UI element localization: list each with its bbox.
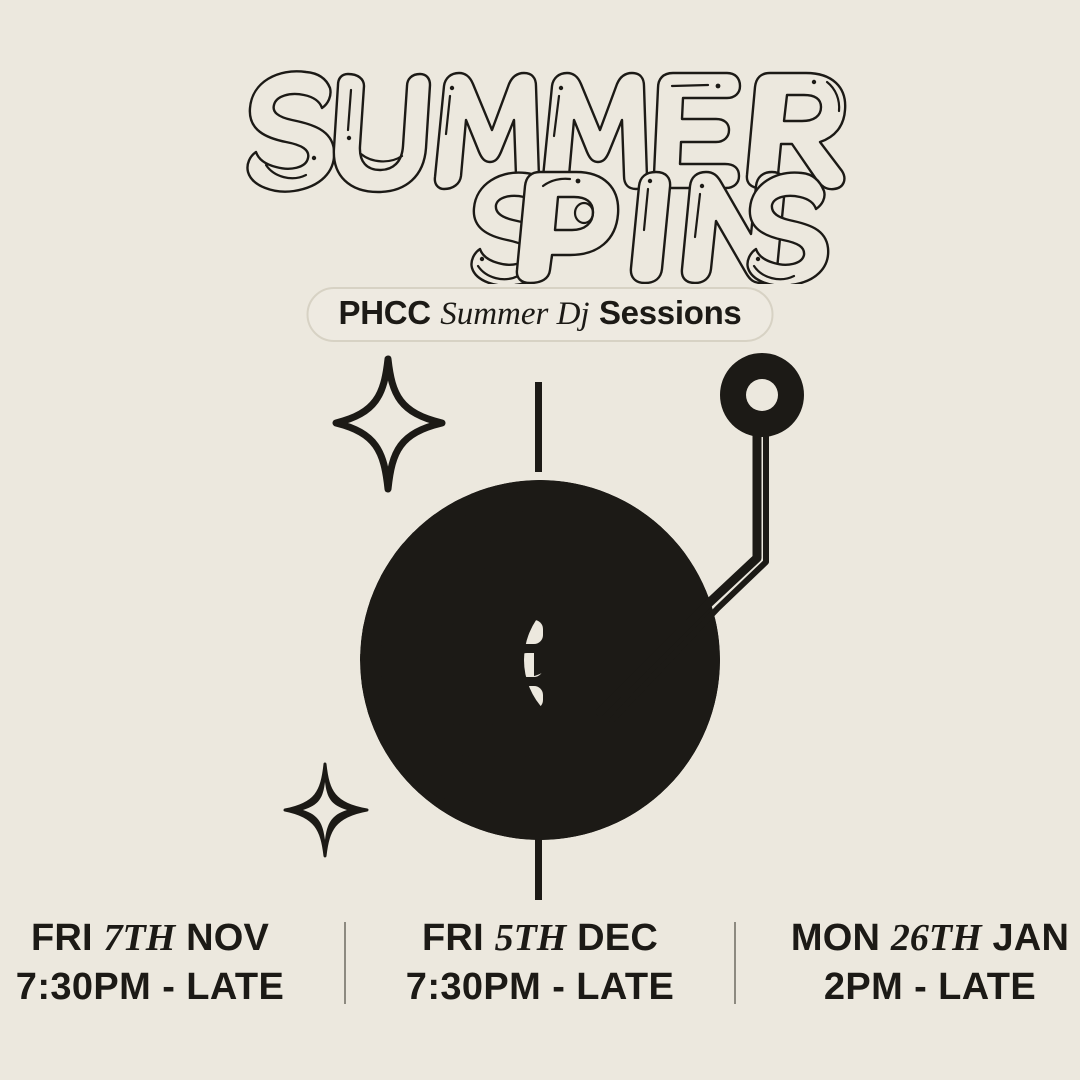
subtitle-italic: Summer Dj bbox=[440, 296, 589, 332]
subtitle-brand: PHCC bbox=[339, 294, 431, 331]
date-month-1: NOV bbox=[186, 917, 269, 959]
sparkle-large-icon bbox=[330, 355, 450, 495]
spindle-top bbox=[535, 382, 542, 472]
date-month-3: JAN bbox=[992, 917, 1069, 959]
date-number-1: 7TH bbox=[104, 917, 176, 959]
date-block-1: FRI 7TH NOV 7:30PM - LATE bbox=[0, 916, 322, 1010]
title-artwork bbox=[230, 34, 850, 284]
subtitle-text: PHCC Summer Dj Sessions bbox=[339, 296, 742, 331]
date-day-2: FRI bbox=[422, 917, 484, 959]
poster-title bbox=[0, 34, 1080, 284]
subtitle-pill: PHCC Summer Dj Sessions bbox=[307, 287, 774, 342]
date-block-2: FRI 5TH DEC 7:30PM - LATE bbox=[368, 916, 712, 1010]
date-headline-2: FRI 5TH DEC bbox=[382, 916, 698, 961]
subtitle-tail: Sessions bbox=[599, 294, 742, 331]
sparkle-small-icon bbox=[281, 760, 371, 860]
date-time-1: 7:30PM - LATE bbox=[0, 965, 308, 1011]
date-month-2: DEC bbox=[577, 917, 658, 959]
date-number-3: 26TH bbox=[891, 917, 982, 959]
date-headline-3: MON 26TH JAN bbox=[772, 916, 1080, 961]
date-number-2: 5TH bbox=[495, 917, 567, 959]
date-divider-2 bbox=[734, 922, 736, 1004]
date-day-1: FRI bbox=[31, 917, 93, 959]
tonearm-pivot bbox=[720, 353, 804, 437]
date-headline-1: FRI 7TH NOV bbox=[0, 916, 308, 961]
central-artwork bbox=[0, 340, 1080, 900]
date-divider-1 bbox=[344, 922, 346, 1004]
disco-ball-vinyl-illustration bbox=[0, 340, 1080, 900]
date-time-2: 7:30PM - LATE bbox=[382, 965, 698, 1011]
date-block-3: MON 26TH JAN 2PM - LATE bbox=[758, 916, 1080, 1010]
poster-canvas: PHCC Summer Dj Sessions bbox=[0, 0, 1080, 1080]
spindle-bottom bbox=[535, 835, 542, 900]
date-day-3: MON bbox=[791, 917, 880, 959]
date-time-3: 2PM - LATE bbox=[772, 965, 1080, 1011]
event-dates: FRI 7TH NOV 7:30PM - LATE FRI 5TH DEC 7:… bbox=[0, 916, 1080, 1010]
